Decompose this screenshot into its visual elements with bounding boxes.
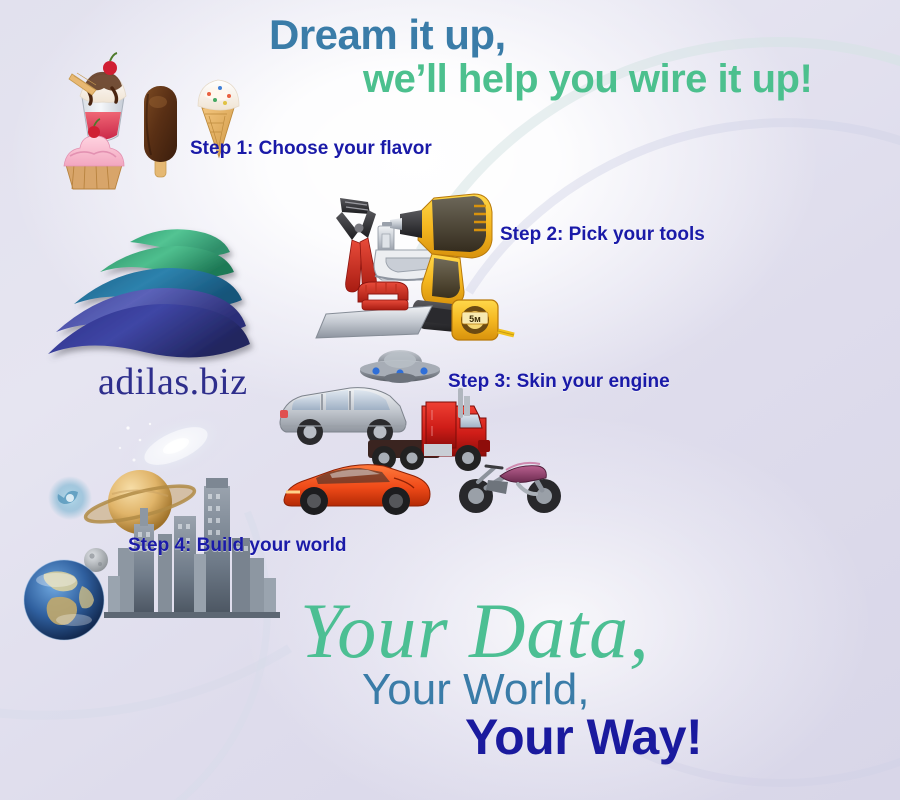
tagline-line-1: Your Data, bbox=[300, 592, 650, 670]
earth-icon bbox=[24, 560, 104, 640]
headline-block: Dream it up, we’ll help you wire it up! bbox=[255, 14, 895, 100]
step-3-label: Step 3: Skin your engine bbox=[448, 371, 670, 393]
tagline-line-2: Your World, bbox=[362, 668, 589, 712]
headline-line-1: Dream it up, bbox=[255, 14, 895, 56]
step-2-label: Step 2: Pick your tools bbox=[500, 224, 705, 246]
step-4-illustration-space-and-city bbox=[8, 408, 283, 643]
step-1-label: Step 1: Choose your flavor bbox=[190, 138, 432, 160]
headline-line-2: we’ll help you wire it up! bbox=[255, 58, 895, 100]
step-1-illustration-ice-cream bbox=[52, 24, 257, 189]
chocolate-ice-cream-bar-icon bbox=[144, 86, 177, 177]
adilas-logo[interactable]: adilas.biz bbox=[38, 220, 278, 405]
tagline-line-3: Your Way! bbox=[465, 712, 702, 762]
logo-wave-shapes bbox=[48, 229, 250, 357]
tape-measure-text: 5м bbox=[469, 314, 481, 324]
trowel-icon bbox=[316, 282, 432, 338]
wire-crimper-pliers-icon bbox=[336, 198, 376, 292]
step-4-label: Step 4: Build your world bbox=[128, 535, 347, 557]
logo-wordmark: adilas.biz bbox=[98, 360, 248, 404]
promotional-poster: Dream it up, we’ll help you wire it up! bbox=[0, 0, 900, 800]
tape-measure-icon: 5м bbox=[452, 300, 514, 340]
sports-car-icon bbox=[284, 465, 430, 515]
step-2-illustration-tools: 5м bbox=[312, 188, 517, 353]
ufo-icon bbox=[360, 350, 440, 383]
motorcycle-icon bbox=[459, 463, 561, 513]
minivan-icon bbox=[280, 388, 406, 445]
